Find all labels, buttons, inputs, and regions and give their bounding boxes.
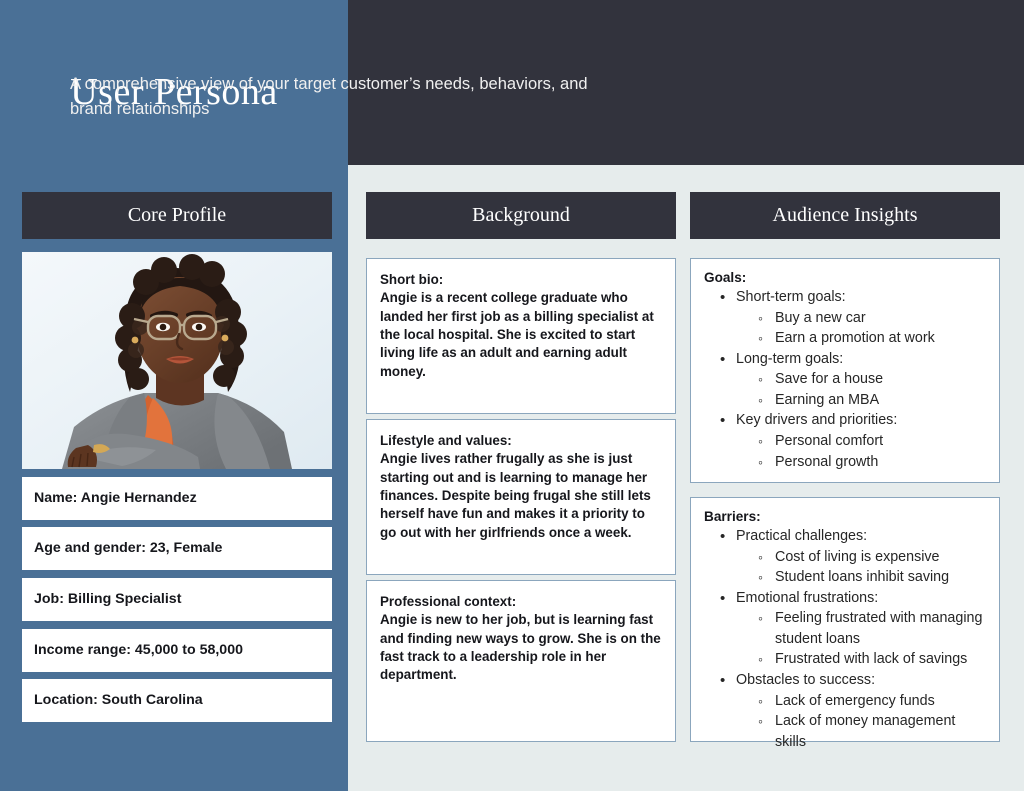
goals-list: Short-term goals: Buy a new car Earn a p… <box>704 287 989 472</box>
list-item: Frustrated with lack of savings <box>758 649 989 670</box>
professional-context-text: Angie is new to her job, but is learning… <box>380 611 662 684</box>
portrait-photo-illustration <box>22 252 332 469</box>
section-header-core-profile: Core Profile <box>22 192 332 239</box>
profile-field-name: Name: Angie Hernandez <box>22 477 332 520</box>
list-item: Earn a promotion at work <box>758 328 989 349</box>
background-card-short-bio: Short bio: Angie is a recent college gra… <box>366 258 676 414</box>
lifestyle-label: Lifestyle and values: <box>380 432 662 450</box>
list-item: Lack of money management skills <box>758 711 989 752</box>
list-item: Lack of emergency funds <box>758 691 989 712</box>
insights-card-barriers: Barriers: Practical challenges: Cost of … <box>690 497 1000 742</box>
list-item: Cost of living is expensive <box>758 547 989 568</box>
lifestyle-text: Angie lives rather frugally as she is ju… <box>380 450 662 542</box>
persona-photo <box>22 252 332 469</box>
barriers-group: Practical challenges: Cost of living is … <box>720 526 989 588</box>
goals-group: Long-term goals: Save for a house Earnin… <box>720 349 989 411</box>
goals-group: Short-term goals: Buy a new car Earn a p… <box>720 287 989 349</box>
goals-sublist: Save for a house Earning an MBA <box>736 369 989 410</box>
barriers-list: Practical challenges: Cost of living is … <box>704 526 989 752</box>
insights-card-goals: Goals: Short-term goals: Buy a new car E… <box>690 258 1000 483</box>
professional-context-label: Professional context: <box>380 593 662 611</box>
background-card-professional-context: Professional context: Angie is new to he… <box>366 580 676 742</box>
barriers-sublist: Cost of living is expensive Student loan… <box>736 547 989 588</box>
goals-group-label: Short-term goals: <box>736 289 846 305</box>
goals-title: Goals: <box>704 270 989 285</box>
section-header-background: Background <box>366 192 676 239</box>
profile-field-job: Job: Billing Specialist <box>22 578 332 621</box>
background-card-lifestyle-values: Lifestyle and values: Angie lives rather… <box>366 419 676 575</box>
list-item: Earning an MBA <box>758 390 989 411</box>
barriers-group-label: Obstacles to success: <box>736 672 875 688</box>
barriers-sublist: Feeling frustrated with managing student… <box>736 608 989 670</box>
list-item: Buy a new car <box>758 308 989 329</box>
barriers-group: Obstacles to success: Lack of emergency … <box>720 670 989 752</box>
section-header-audience-insights: Audience Insights <box>690 192 1000 239</box>
goals-group-label: Long-term goals: <box>736 351 843 367</box>
goals-sublist: Personal comfort Personal growth <box>736 431 989 472</box>
list-item: Feeling frustrated with managing student… <box>758 608 989 649</box>
profile-field-income-range: Income range: 45,000 to 58,000 <box>22 629 332 672</box>
profile-field-location: Location: South Carolina <box>22 679 332 722</box>
list-item: Student loans inhibit saving <box>758 567 989 588</box>
header-subtitle: A comprehensive view of your target cust… <box>70 72 600 122</box>
goals-group: Key drivers and priorities: Personal com… <box>720 410 989 472</box>
list-item: Personal growth <box>758 452 989 473</box>
goals-group-label: Key drivers and priorities: <box>736 412 897 428</box>
barriers-title: Barriers: <box>704 509 989 524</box>
barriers-group-label: Emotional frustrations: <box>736 590 878 606</box>
barriers-group-label: Practical challenges: <box>736 528 867 544</box>
barriers-sublist: Lack of emergency funds Lack of money ma… <box>736 691 989 753</box>
barriers-group: Emotional frustrations: Feeling frustrat… <box>720 588 989 670</box>
list-item: Save for a house <box>758 369 989 390</box>
short-bio-label: Short bio: <box>380 271 662 289</box>
goals-sublist: Buy a new car Earn a promotion at work <box>736 308 989 349</box>
short-bio-text: Angie is a recent college graduate who l… <box>380 289 662 381</box>
profile-field-age-gender: Age and gender: 23, Female <box>22 527 332 570</box>
list-item: Personal comfort <box>758 431 989 452</box>
